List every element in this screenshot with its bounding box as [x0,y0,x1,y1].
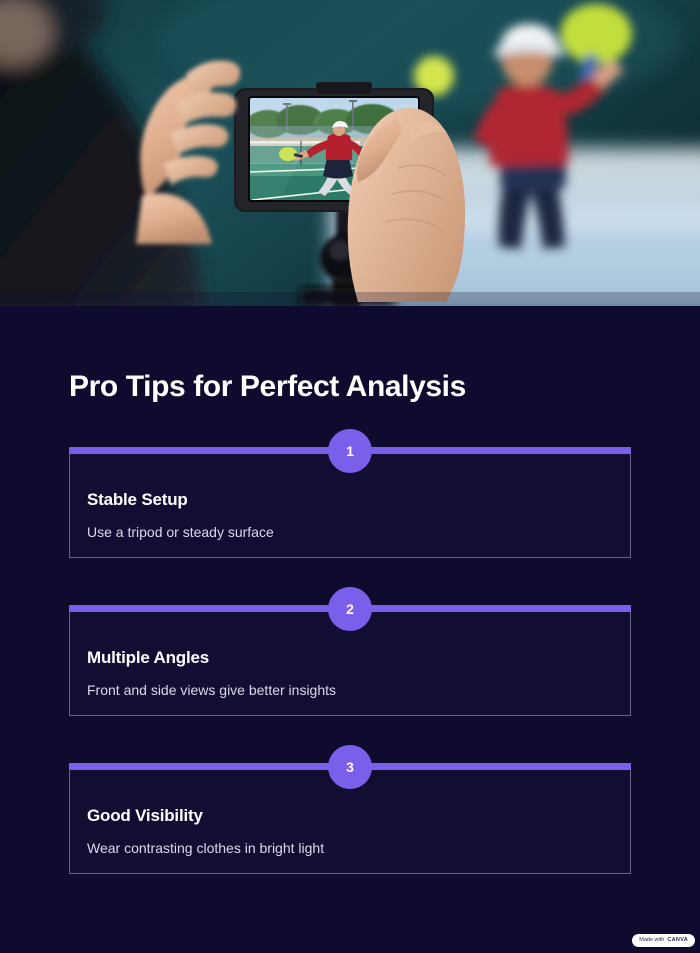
tips-list: 1 Stable Setup Use a tripod or steady su… [69,447,631,874]
tip-body: Front and side views give better insight… [87,682,336,698]
made-with-canva-badge[interactable]: Made with CANVA [632,934,695,947]
tip-heading: Multiple Angles [87,648,209,668]
tip-card[interactable]: 3 Good Visibility Wear contrasting cloth… [69,763,631,874]
page-title: Pro Tips for Perfect Analysis [69,370,466,404]
tip-number-badge: 3 [328,745,372,789]
tip-body: Use a tripod or steady surface [87,524,274,540]
tip-card[interactable]: 2 Multiple Angles Front and side views g… [69,605,631,716]
tip-heading: Good Visibility [87,806,203,826]
tip-number-badge: 1 [328,429,372,473]
hero-photo [0,0,700,306]
watermark-brand: CANVA [667,938,688,944]
watermark-prefix: Made with [639,938,664,944]
tip-number-badge: 2 [328,587,372,631]
content-panel: Pro Tips for Perfect Analysis 1 Stable S… [0,306,700,953]
tip-card[interactable]: 1 Stable Setup Use a tripod or steady su… [69,447,631,558]
tip-heading: Stable Setup [87,490,188,510]
tip-body: Wear contrasting clothes in bright light [87,840,324,856]
hero-illustration [0,0,700,306]
